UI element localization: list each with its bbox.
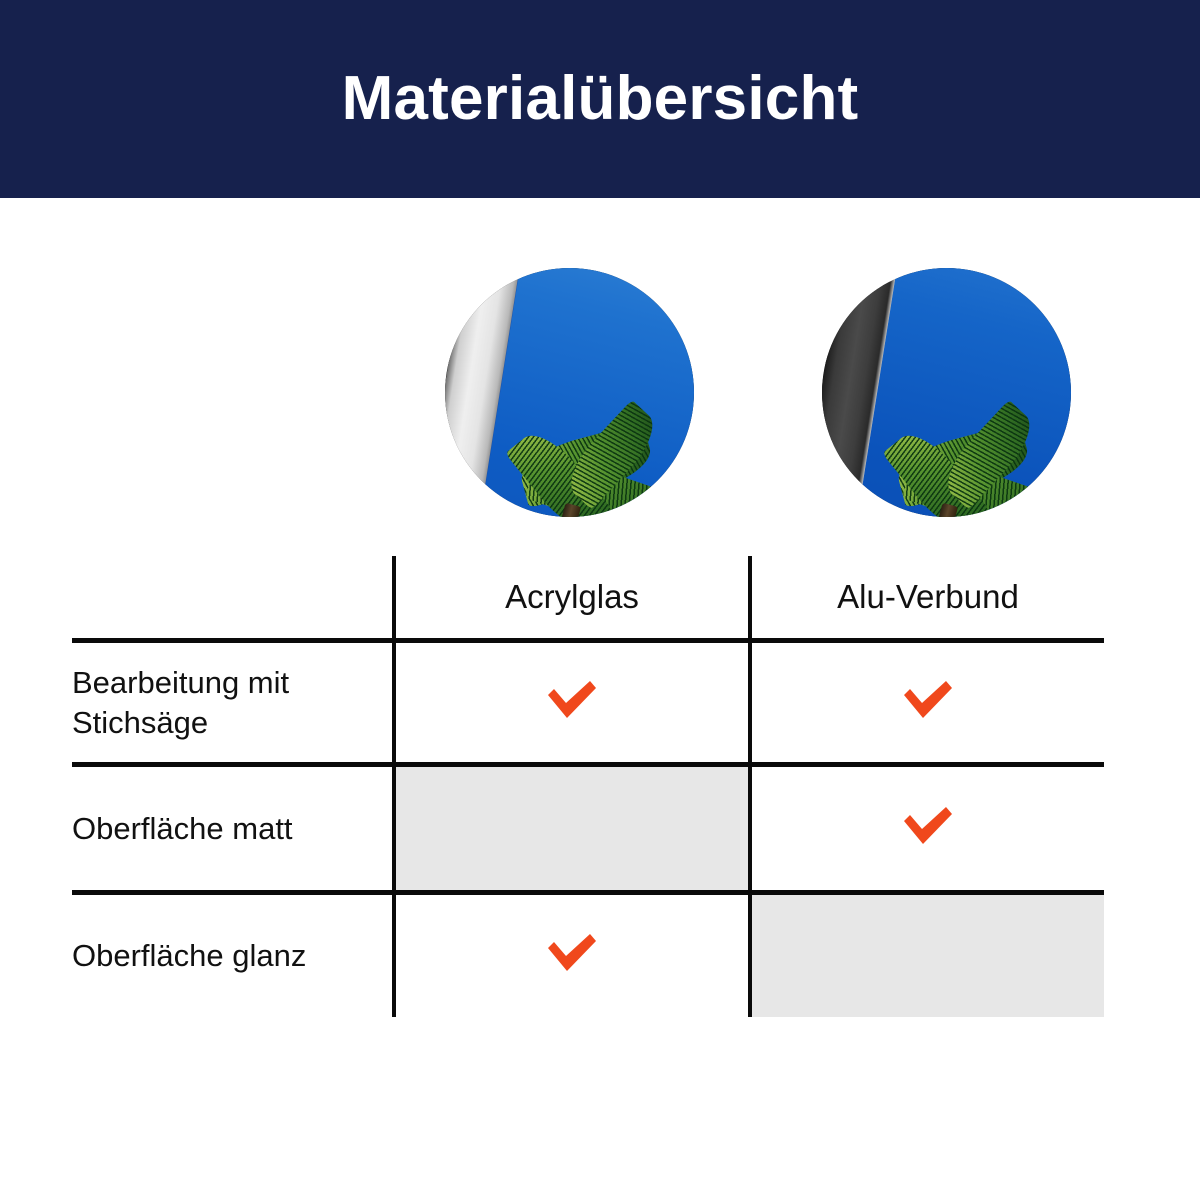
check-icon (901, 804, 955, 848)
acrylglas-panel-scene (445, 268, 694, 517)
page-title: Materialübersicht (342, 68, 859, 130)
row-label-line1: Oberfläche glanz (72, 936, 392, 976)
product-preview-row (0, 268, 1200, 518)
alu-verbund-preview-image (822, 268, 1071, 517)
column-header-alu-verbund: Alu-Verbund (750, 556, 1104, 641)
page-header-banner: Materialübersicht (0, 0, 1200, 198)
table-corner-cell (72, 556, 394, 641)
row-label-oberflaeche-glanz: Oberfläche glanz (72, 893, 394, 1017)
row-label-line1: Oberfläche matt (72, 809, 392, 849)
row-label-line2: Stichsäge (72, 703, 392, 743)
table-row: Oberfläche matt (72, 765, 1104, 893)
column-header-acrylglas: Acrylglas (394, 556, 750, 641)
material-comparison-table: Acrylglas Alu-Verbund Bearbeitung mit St… (72, 556, 1104, 1014)
table-row: Bearbeitung mit Stichsäge (72, 641, 1104, 765)
row-label-oberflaeche-matt: Oberfläche matt (72, 765, 394, 893)
cell-bearbeitung-acrylglas (394, 641, 750, 765)
cell-oberflaeche-glanz-alu-verbund (750, 893, 1104, 1017)
row-label-line1: Bearbeitung mit (72, 663, 392, 703)
alu-verbund-panel-scene (822, 268, 1071, 517)
check-icon (545, 931, 599, 975)
cell-bearbeitung-alu-verbund (750, 641, 1104, 765)
acrylglas-preview-image (445, 268, 694, 517)
table-row: Oberfläche glanz (72, 893, 1104, 1017)
table-header-row: Acrylglas Alu-Verbund (72, 556, 1104, 641)
check-icon (545, 678, 599, 722)
cell-oberflaeche-glanz-acrylglas (394, 893, 750, 1017)
check-icon (901, 678, 955, 722)
cell-oberflaeche-matt-alu-verbund (750, 765, 1104, 893)
cell-oberflaeche-matt-acrylglas (394, 765, 750, 893)
row-label-bearbeitung: Bearbeitung mit Stichsäge (72, 641, 394, 765)
